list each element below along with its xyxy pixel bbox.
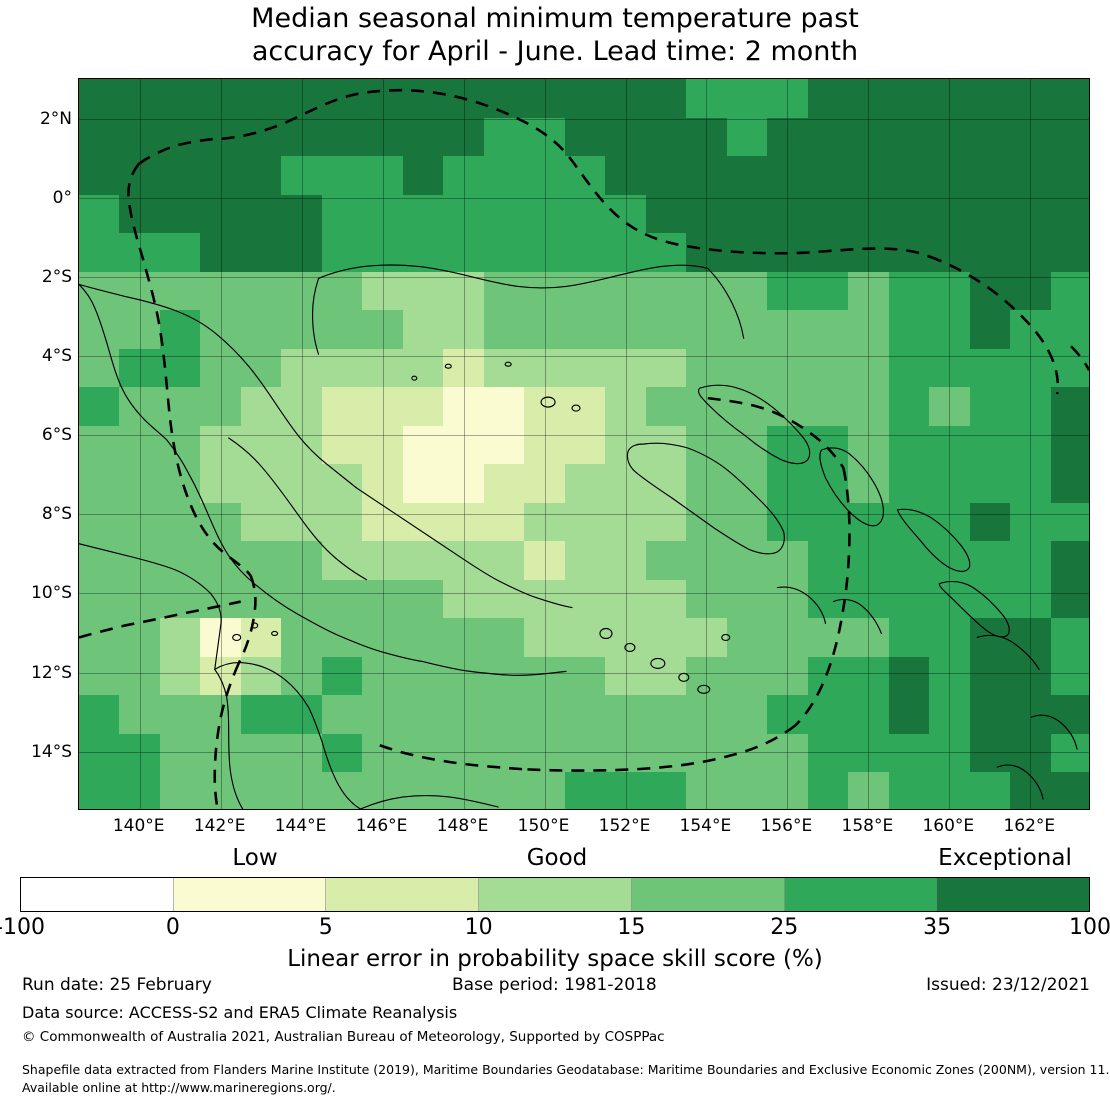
heatmap-cell	[79, 618, 120, 657]
heatmap-cell	[200, 464, 241, 503]
heatmap-cell	[281, 349, 322, 388]
heatmap-cell	[281, 426, 322, 465]
heatmap-cell	[929, 349, 970, 388]
heatmap-cell	[79, 695, 120, 734]
colorbar-tick-label: 10	[399, 915, 559, 940]
heatmap-cell	[484, 349, 525, 388]
heatmap-cell	[970, 233, 1011, 272]
heatmap-cell	[727, 272, 768, 311]
heatmap-cell	[605, 118, 646, 157]
heatmap-cell	[889, 310, 930, 349]
heatmap-cell	[524, 118, 565, 157]
heatmap-cell	[443, 503, 484, 542]
heatmap-cell	[808, 272, 849, 311]
y-tick-label: 0°	[0, 188, 72, 208]
heatmap-cell	[605, 79, 646, 118]
heatmap-cell	[646, 580, 687, 619]
heatmap-cell	[322, 541, 363, 580]
heatmap-cell	[119, 233, 160, 272]
heatmap-cell	[281, 79, 322, 118]
heatmap-cell	[767, 580, 808, 619]
heatmap-cell	[1051, 79, 1090, 118]
heatmap-cell	[848, 580, 889, 619]
heatmap-cell	[524, 272, 565, 311]
heatmap-cell	[646, 426, 687, 465]
map-plot-area	[78, 78, 1090, 810]
heatmap-cell	[646, 734, 687, 773]
heatmap-cell	[929, 695, 970, 734]
heatmap-cell	[241, 233, 282, 272]
heatmap-cell	[848, 349, 889, 388]
heatmap-cell	[686, 580, 727, 619]
colorbar-segment	[174, 878, 327, 911]
heatmap-cell	[484, 695, 525, 734]
heatmap-cell	[281, 156, 322, 195]
y-tick-label: 2°N	[0, 109, 72, 129]
heatmap-cell	[281, 695, 322, 734]
heatmap-cell	[403, 657, 444, 696]
heatmap-cell	[970, 349, 1011, 388]
heatmap-cell	[565, 541, 606, 580]
heatmap-cell	[565, 426, 606, 465]
heatmap-cell	[808, 541, 849, 580]
heatmap-cell	[281, 734, 322, 773]
heatmap-cell	[362, 156, 403, 195]
heatmap-cell	[1010, 426, 1051, 465]
heatmap-cell	[767, 79, 808, 118]
heatmap-cell	[767, 195, 808, 234]
heatmap-cell	[565, 503, 606, 542]
heatmap-cell	[362, 503, 403, 542]
y-tick-label: 6°S	[0, 425, 72, 445]
heatmap-cell	[727, 695, 768, 734]
heatmap-cell	[484, 464, 525, 503]
issued-date: Issued: 23/12/2021	[926, 975, 1090, 995]
heatmap-cell	[200, 233, 241, 272]
heatmap-cell	[929, 195, 970, 234]
heatmap-cell	[79, 657, 120, 696]
heatmap-cell	[1010, 233, 1051, 272]
heatmap-cell	[362, 233, 403, 272]
heatmap-cell	[484, 772, 525, 810]
heatmap-cell	[200, 195, 241, 234]
heatmap-cell	[241, 387, 282, 426]
heatmap-cell	[200, 79, 241, 118]
heatmap-cell	[119, 657, 160, 696]
heatmap-cell	[970, 195, 1011, 234]
heatmap-cell	[79, 349, 120, 388]
heatmap-cell	[443, 79, 484, 118]
heatmap-cell	[808, 772, 849, 810]
heatmap-cell	[1051, 310, 1090, 349]
heatmap-cell	[767, 695, 808, 734]
heatmap-cell	[646, 387, 687, 426]
heatmap-cell	[1051, 426, 1090, 465]
heatmap-cell	[767, 233, 808, 272]
heatmap-cell	[200, 118, 241, 157]
heatmap-cell	[322, 695, 363, 734]
heatmap-cell	[767, 426, 808, 465]
heatmap-cell	[484, 503, 525, 542]
heatmap-cell	[119, 580, 160, 619]
heatmap-cell	[160, 580, 201, 619]
shapefile-credit-line-2: Available online at http://www.marinereg…	[22, 1080, 336, 1095]
heatmap-cell	[200, 618, 241, 657]
heatmap-cell	[970, 156, 1011, 195]
heatmap-cell	[1010, 541, 1051, 580]
heatmap-cell	[362, 695, 403, 734]
heatmap-cell	[605, 695, 646, 734]
heatmap-cell	[767, 734, 808, 773]
heatmap-cell	[443, 233, 484, 272]
heatmap-cell	[160, 541, 201, 580]
heatmap-cell	[848, 195, 889, 234]
heatmap-cell	[403, 695, 444, 734]
heatmap-cell	[808, 387, 849, 426]
heatmap-cell	[565, 310, 606, 349]
heatmap-cell	[848, 618, 889, 657]
heatmap-cell	[200, 695, 241, 734]
x-tick-label: 162°E	[969, 816, 1089, 836]
colorbar-tick-label: 0	[93, 915, 253, 940]
heatmap-cell	[727, 349, 768, 388]
heatmap-cell	[403, 541, 444, 580]
heatmap-cell	[79, 156, 120, 195]
heatmap-cell	[241, 464, 282, 503]
heatmap-cell	[686, 272, 727, 311]
heatmap-cell	[484, 618, 525, 657]
heatmap-cell	[119, 118, 160, 157]
heatmap-cell	[322, 503, 363, 542]
heatmap-cell	[646, 772, 687, 810]
heatmap-cell	[200, 772, 241, 810]
heatmap-cell	[808, 618, 849, 657]
heatmap-cell	[241, 156, 282, 195]
data-source: Data source: ACCESS-S2 and ERA5 Climate …	[22, 1003, 457, 1022]
heatmap-cell	[484, 387, 525, 426]
heatmap-cell	[889, 695, 930, 734]
colorbar-category-label: Low	[105, 845, 405, 871]
heatmap-cell	[686, 657, 727, 696]
heatmap-cell	[484, 195, 525, 234]
heatmap-cell	[1051, 734, 1090, 773]
colorbar-section: LowGoodExceptional -1000510152535100 Lin…	[0, 845, 1110, 965]
heatmap-cell	[929, 426, 970, 465]
heatmap-cell	[808, 156, 849, 195]
heatmap-cell	[281, 541, 322, 580]
heatmap-cell	[281, 233, 322, 272]
heatmap-cell	[200, 156, 241, 195]
heatmap-cell	[119, 310, 160, 349]
heatmap-cell	[889, 657, 930, 696]
heatmap-cell	[160, 695, 201, 734]
heatmap-cell	[524, 541, 565, 580]
heatmap-cell	[889, 426, 930, 465]
heatmap-cell	[727, 426, 768, 465]
heatmap-cell	[686, 195, 727, 234]
heatmap-cell	[646, 79, 687, 118]
heatmap-cell	[605, 580, 646, 619]
heatmap-cell	[848, 772, 889, 810]
heatmap-cell	[1010, 118, 1051, 157]
heatmap-cell	[808, 695, 849, 734]
heatmap-cell	[200, 734, 241, 773]
heatmap-cell	[767, 310, 808, 349]
heatmap-cell	[119, 426, 160, 465]
heatmap-cell	[565, 657, 606, 696]
heatmap-cell	[403, 503, 444, 542]
heatmap-cell	[241, 618, 282, 657]
heatmap-cell	[1051, 503, 1090, 542]
heatmap-cell	[160, 156, 201, 195]
heatmap-cell	[1051, 695, 1090, 734]
heatmap-cell	[484, 233, 525, 272]
heatmap-cell	[241, 195, 282, 234]
heatmap-cell	[767, 541, 808, 580]
heatmap-cell	[727, 772, 768, 810]
heatmap-cell	[646, 156, 687, 195]
heatmap-cell	[403, 734, 444, 773]
heatmap-cell	[160, 118, 201, 157]
heatmap-cell	[160, 464, 201, 503]
heatmap-cell	[443, 156, 484, 195]
heatmap-cell	[727, 734, 768, 773]
heatmap-cell	[403, 79, 444, 118]
heatmap-cell	[160, 618, 201, 657]
heatmap-cell	[848, 118, 889, 157]
heatmap-cell	[727, 233, 768, 272]
heatmap-cell	[686, 541, 727, 580]
heatmap-cell	[1010, 464, 1051, 503]
heatmap-cell	[848, 734, 889, 773]
heatmap-cell	[565, 156, 606, 195]
run-date: Run date: 25 February	[22, 975, 212, 995]
heatmap-cell	[808, 195, 849, 234]
heatmap-cell	[848, 156, 889, 195]
heatmap-cell	[484, 118, 525, 157]
title-line-1: Median seasonal minimum temperature past	[0, 2, 1110, 35]
heatmap-cell	[808, 503, 849, 542]
heatmap-cell	[79, 426, 120, 465]
heatmap-cell	[929, 464, 970, 503]
heatmap-cell	[524, 503, 565, 542]
heatmap-cell	[1010, 272, 1051, 311]
heatmap-cell	[403, 387, 444, 426]
heatmap-cell	[119, 272, 160, 311]
heatmap-cell	[322, 464, 363, 503]
colorbar[interactable]	[20, 877, 1090, 912]
heatmap-cell	[889, 387, 930, 426]
heatmap-cell	[322, 195, 363, 234]
heatmap-cell	[362, 349, 403, 388]
heatmap-cell	[646, 272, 687, 311]
heatmap-cell	[322, 79, 363, 118]
colorbar-segment	[785, 878, 938, 911]
heatmap-cell	[362, 772, 403, 810]
heatmap-cell	[970, 772, 1011, 810]
heatmap-cell	[605, 618, 646, 657]
colorbar-segment	[326, 878, 479, 911]
heatmap-cell	[403, 233, 444, 272]
heatmap-cell	[889, 349, 930, 388]
heatmap-cell	[808, 657, 849, 696]
heatmap-cell	[79, 464, 120, 503]
colorbar-tick-label: 100	[1010, 915, 1110, 940]
heatmap-cell	[565, 349, 606, 388]
heatmap-cell	[484, 426, 525, 465]
colorbar-tick-label: -100	[0, 915, 100, 940]
base-period: Base period: 1981-2018	[452, 975, 657, 995]
heatmap-cell	[443, 118, 484, 157]
heatmap-cell	[970, 580, 1011, 619]
heatmap-cell	[889, 233, 930, 272]
heatmap-cell	[484, 734, 525, 773]
heatmap-cell	[241, 349, 282, 388]
heatmap-cell	[767, 349, 808, 388]
heatmap-cell	[443, 580, 484, 619]
heatmap-cell	[1051, 349, 1090, 388]
heatmap-cell	[362, 618, 403, 657]
heatmap-cell	[929, 772, 970, 810]
heatmap-cell	[848, 503, 889, 542]
heatmap-cell	[281, 503, 322, 542]
heatmap-cell	[524, 657, 565, 696]
heatmap-cell	[565, 734, 606, 773]
heatmap-cell	[727, 541, 768, 580]
heatmap-cell	[686, 734, 727, 773]
heatmap-cell	[443, 541, 484, 580]
heatmap-cell	[646, 695, 687, 734]
heatmap-cell	[281, 310, 322, 349]
heatmap-cell	[79, 387, 120, 426]
heatmap-cell	[484, 580, 525, 619]
heatmap-cell	[200, 387, 241, 426]
heatmap-cell	[322, 618, 363, 657]
heatmap-cell	[322, 272, 363, 311]
heatmap-cell	[119, 156, 160, 195]
heatmap-cell	[241, 426, 282, 465]
heatmap-cell	[929, 118, 970, 157]
heatmap-cell	[970, 310, 1011, 349]
heatmap-cell	[929, 233, 970, 272]
footer-meta-row: Run date: 25 February Base period: 1981-…	[0, 975, 1110, 999]
heatmap-cell	[970, 79, 1011, 118]
heatmap-cell	[970, 464, 1011, 503]
heatmap-cell	[767, 657, 808, 696]
heatmap-cell	[79, 310, 120, 349]
heatmap-cell	[727, 310, 768, 349]
heatmap-cell	[889, 541, 930, 580]
heatmap-cell	[646, 349, 687, 388]
heatmap-cell	[443, 657, 484, 696]
heatmap-cell	[362, 541, 403, 580]
heatmap-cell	[362, 118, 403, 157]
title-line-2: accuracy for April - June. Lead time: 2 …	[0, 35, 1110, 68]
heatmap-cell	[686, 233, 727, 272]
heatmap-cell	[848, 310, 889, 349]
heatmap-cell	[524, 464, 565, 503]
heatmap-cell	[281, 118, 322, 157]
heatmap-cell	[241, 772, 282, 810]
heatmap-cell	[79, 541, 120, 580]
heatmap-cell	[362, 426, 403, 465]
heatmap-cell	[403, 195, 444, 234]
heatmap-cell	[605, 734, 646, 773]
heatmap-cell	[79, 734, 120, 773]
heatmap-cell	[484, 272, 525, 311]
heatmap-cell	[443, 464, 484, 503]
heatmap-cell	[970, 541, 1011, 580]
heatmap-cell	[808, 734, 849, 773]
heatmap-cell	[686, 387, 727, 426]
heatmap-cell	[484, 541, 525, 580]
heatmap-cell	[565, 118, 606, 157]
heatmap-cell	[646, 618, 687, 657]
heatmap-cell	[79, 503, 120, 542]
heatmap-cell	[727, 387, 768, 426]
heatmap-cell	[1051, 387, 1090, 426]
heatmap-cell	[605, 387, 646, 426]
heatmap-cell	[889, 118, 930, 157]
heatmap-cell	[322, 156, 363, 195]
heatmap-cell	[443, 310, 484, 349]
heatmap-cell	[727, 580, 768, 619]
heatmap-cell	[767, 772, 808, 810]
heatmap-cell	[1010, 310, 1051, 349]
heatmap-cell	[686, 426, 727, 465]
heatmap-cell	[686, 79, 727, 118]
heatmap-cell	[889, 272, 930, 311]
heatmap-cell	[1051, 233, 1090, 272]
heatmap-cell	[605, 233, 646, 272]
heatmap-cell	[241, 580, 282, 619]
heatmap-cell	[403, 464, 444, 503]
heatmap-cell	[362, 464, 403, 503]
heatmap-cell	[281, 387, 322, 426]
footer: Run date: 25 February Base period: 1981-…	[0, 970, 1110, 1110]
heatmap-cell	[605, 464, 646, 503]
heatmap-cell	[484, 310, 525, 349]
heatmap-cell	[727, 156, 768, 195]
heatmap-cell	[160, 657, 201, 696]
heatmap-cell	[1051, 156, 1090, 195]
heatmap-cell	[1010, 734, 1051, 773]
heatmap-cell	[524, 195, 565, 234]
heatmap-cell	[889, 503, 930, 542]
heatmap-cell	[767, 156, 808, 195]
heatmap-cell	[484, 79, 525, 118]
heatmap-cell	[119, 503, 160, 542]
colorbar-category-label: Exceptional	[855, 845, 1110, 871]
heatmap-cell	[524, 79, 565, 118]
heatmap-cell	[119, 618, 160, 657]
copyright-notice: © Commonwealth of Australia 2021, Austra…	[22, 1029, 665, 1045]
heatmap-cell	[403, 772, 444, 810]
heatmap-cell	[646, 195, 687, 234]
heatmap-cell	[79, 580, 120, 619]
heatmap-cell	[727, 195, 768, 234]
heatmap-cell	[160, 272, 201, 311]
heatmap-cell	[160, 349, 201, 388]
y-tick-label: 8°S	[0, 504, 72, 524]
heatmap-cell	[322, 657, 363, 696]
heatmap-cell	[241, 734, 282, 773]
heatmap-cell	[524, 310, 565, 349]
heatmap-cell	[686, 310, 727, 349]
heatmap-cell	[79, 79, 120, 118]
heatmap-cell	[686, 618, 727, 657]
heatmap-cell	[79, 195, 120, 234]
